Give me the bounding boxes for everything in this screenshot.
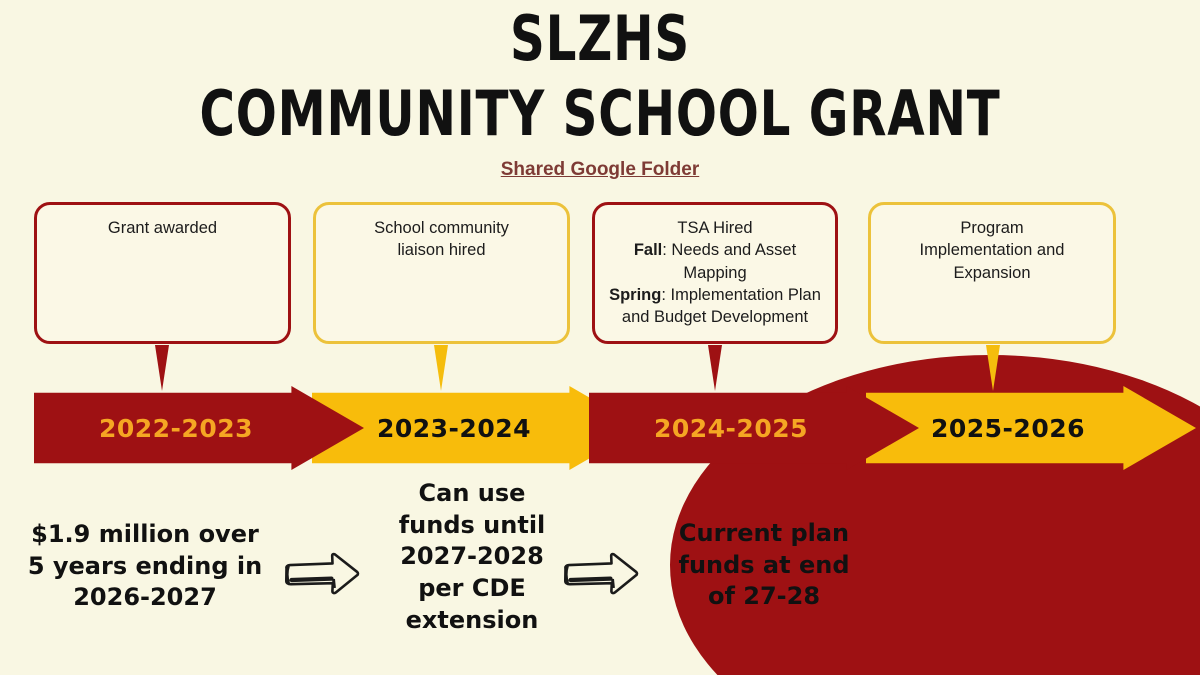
note-funds-extension: Can use funds until 2027-2028 per CDE ex…: [386, 478, 558, 636]
sketch-arrow-right-icon: [282, 552, 360, 596]
phase-box-2025-2026: Program Implementation and Expansion: [868, 202, 1116, 344]
note-current-plan: Current plan funds at end of 27-28: [664, 518, 864, 613]
phase-box-text: TSA HiredFall: Needs and Asset MappingSp…: [607, 217, 823, 328]
timeline-arrow-2022-2023[interactable]: 2022-2023: [34, 386, 364, 470]
timeline-arrow-label: 2022-2023: [99, 414, 253, 443]
shared-google-folder-link[interactable]: Shared Google Folder: [501, 159, 699, 181]
timeline-arrow-2024-2025[interactable]: 2024-2025: [589, 386, 919, 470]
timeline-arrow-label: 2024-2025: [654, 414, 808, 443]
phase-box-text: School community liaison hired: [328, 217, 555, 262]
page-title-line-2: COMMUNITY SCHOOL GRANT: [132, 77, 1068, 151]
timeline-arrow-label: 2025-2026: [931, 414, 1085, 443]
note-grant-amount: $1.9 million over 5 years ending in 2026…: [14, 519, 276, 614]
phase-box-2024-2025: TSA HiredFall: Needs and Asset MappingSp…: [592, 202, 838, 344]
phase-boxes: Grant awarded School community liaison h…: [0, 198, 1200, 363]
phase-box-2023-2024: School community liaison hired: [313, 202, 570, 344]
timeline-arrow-label: 2023-2024: [377, 414, 531, 443]
phase-box-text: Grant awarded: [49, 217, 276, 239]
header: SLZHS COMMUNITY SCHOOL GRANT Shared Goog…: [0, 6, 1200, 181]
infographic-canvas: SLZHS COMMUNITY SCHOOL GRANT Shared Goog…: [0, 0, 1200, 675]
sketch-arrow-right-icon: [561, 552, 639, 596]
phase-box-2022-2023: Grant awarded: [34, 202, 291, 344]
page-title-line-1: SLZHS: [132, 6, 1068, 71]
timeline-arrow-band: 2023-2024 2025-2026 2022-2023 2024-2025: [0, 386, 1200, 476]
phase-box-text: Program Implementation and Expansion: [883, 217, 1101, 284]
bottom-notes: $1.9 million over 5 years ending in 2026…: [0, 490, 1200, 675]
